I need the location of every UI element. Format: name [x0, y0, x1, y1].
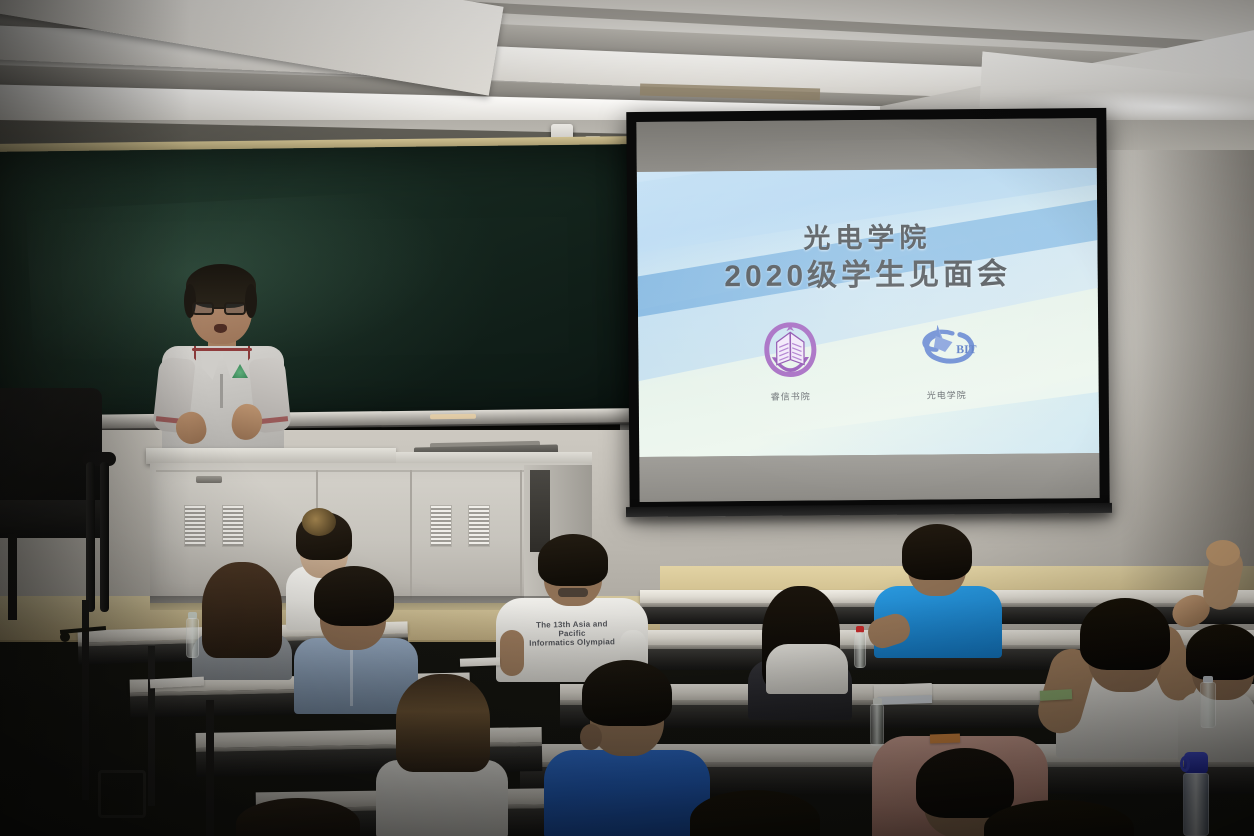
paper-mid	[460, 657, 500, 666]
logo-caption-ruixin: 睿信书院	[736, 389, 846, 403]
console-latch	[196, 476, 222, 483]
slide-title-line1: 光电学院	[637, 220, 1097, 258]
screen-bottom-band	[639, 453, 1099, 502]
bottle-body	[1183, 773, 1209, 836]
presenter	[148, 262, 298, 472]
projection-screen-surface: 光电学院 2020级学生见面会	[636, 118, 1099, 502]
slide-title-line2: 2020级学生见面会	[638, 254, 1098, 299]
bit-school-of-optics-emblem-icon: BIT	[915, 317, 978, 380]
bottle-body	[854, 632, 866, 668]
person-body	[766, 644, 848, 694]
student-blue-tee-upper-right	[874, 530, 1002, 656]
logo-block-ruixin: 睿信书院	[735, 318, 846, 403]
water-bottle-right	[1200, 676, 1216, 728]
person-hair-bun	[302, 508, 336, 536]
presentation-slide: 光电学院 2020级学生见面会	[637, 168, 1099, 457]
glasses-bridge-icon	[214, 307, 224, 309]
person-hair-long	[396, 674, 490, 772]
glasses-right-lens-icon	[224, 302, 246, 315]
logo-caption-bit-optics: 光电学院	[892, 388, 1002, 402]
console-vent-2	[222, 505, 244, 547]
raised-hand-far-right	[1206, 540, 1240, 566]
lecture-hall-photo: 光电学院 2020级学生见面会	[0, 0, 1254, 836]
person-hair	[582, 660, 672, 726]
water-bottle-mid	[854, 626, 866, 668]
ruixin-college-emblem-icon	[759, 318, 822, 381]
student-long-hair-gray-top	[192, 560, 292, 678]
person-hair	[902, 524, 972, 580]
student-light-top-upper-right	[756, 592, 852, 692]
water-bottle-left	[186, 612, 199, 658]
green-item-right	[1040, 689, 1072, 701]
desk-wire-basket	[98, 770, 146, 818]
presenter-collar-stripe	[192, 348, 252, 351]
desk-rail-knob	[60, 632, 70, 642]
console-vent-3	[430, 505, 452, 547]
tshirt-text: The 13th Asia and Pacific Informatics Ol…	[526, 619, 618, 647]
office-chair-leg-b	[100, 462, 109, 612]
student-light-top-front-left	[376, 668, 508, 836]
bottle-body	[1200, 682, 1216, 728]
person-ear	[580, 724, 602, 750]
svg-text:BIT: BIT	[956, 343, 977, 356]
orange-item-right	[930, 733, 960, 743]
logo-block-bit-optics: BIT 光电学院	[891, 317, 1002, 402]
student-blue-polo-front-center	[544, 658, 710, 836]
tshirt-text-line2: Informatics Olympiad	[526, 638, 618, 649]
bottle-handle	[1180, 756, 1190, 772]
presenter-hair-right	[245, 284, 257, 318]
console-vent-4	[468, 505, 490, 547]
office-chair-leg-a	[86, 462, 95, 612]
projection-screen: 光电学院 2020级学生见面会	[626, 108, 1109, 512]
bottle-body	[186, 618, 199, 658]
shirt-seam	[350, 646, 353, 706]
tshirt-text-line1: The 13th Asia and Pacific	[526, 619, 618, 639]
chalk-piece	[430, 414, 476, 420]
office-chair-leg-c	[8, 534, 17, 620]
console-top-surface	[146, 448, 396, 464]
person-hair	[1186, 624, 1254, 680]
slide-title-block: 光电学院 2020级学生见面会	[637, 220, 1098, 298]
student-white-tee-stretching	[1048, 586, 1198, 756]
console-vent-1	[184, 505, 206, 547]
person-body	[544, 750, 710, 836]
presenter-mouth	[214, 324, 227, 333]
desk-leg-3	[206, 700, 214, 836]
collar-band	[558, 588, 588, 597]
person-hair-long	[202, 562, 282, 658]
bottle-body	[870, 704, 884, 746]
person-hair	[314, 566, 394, 626]
presenter-placket	[220, 374, 223, 408]
person-hair	[538, 534, 608, 586]
water-bottle-mid-low	[870, 698, 884, 746]
desk-leg-2	[148, 646, 155, 806]
person-hair	[916, 748, 1014, 818]
screen-top-band	[636, 118, 1096, 172]
water-bottle-blue-cap	[1182, 752, 1210, 836]
person-hair	[1080, 598, 1170, 670]
student-right-edge-partial	[1178, 630, 1254, 758]
glasses-left-lens-icon	[192, 302, 214, 315]
slide-logo-row: 睿信书院 BIT 光电学院	[638, 316, 1099, 404]
